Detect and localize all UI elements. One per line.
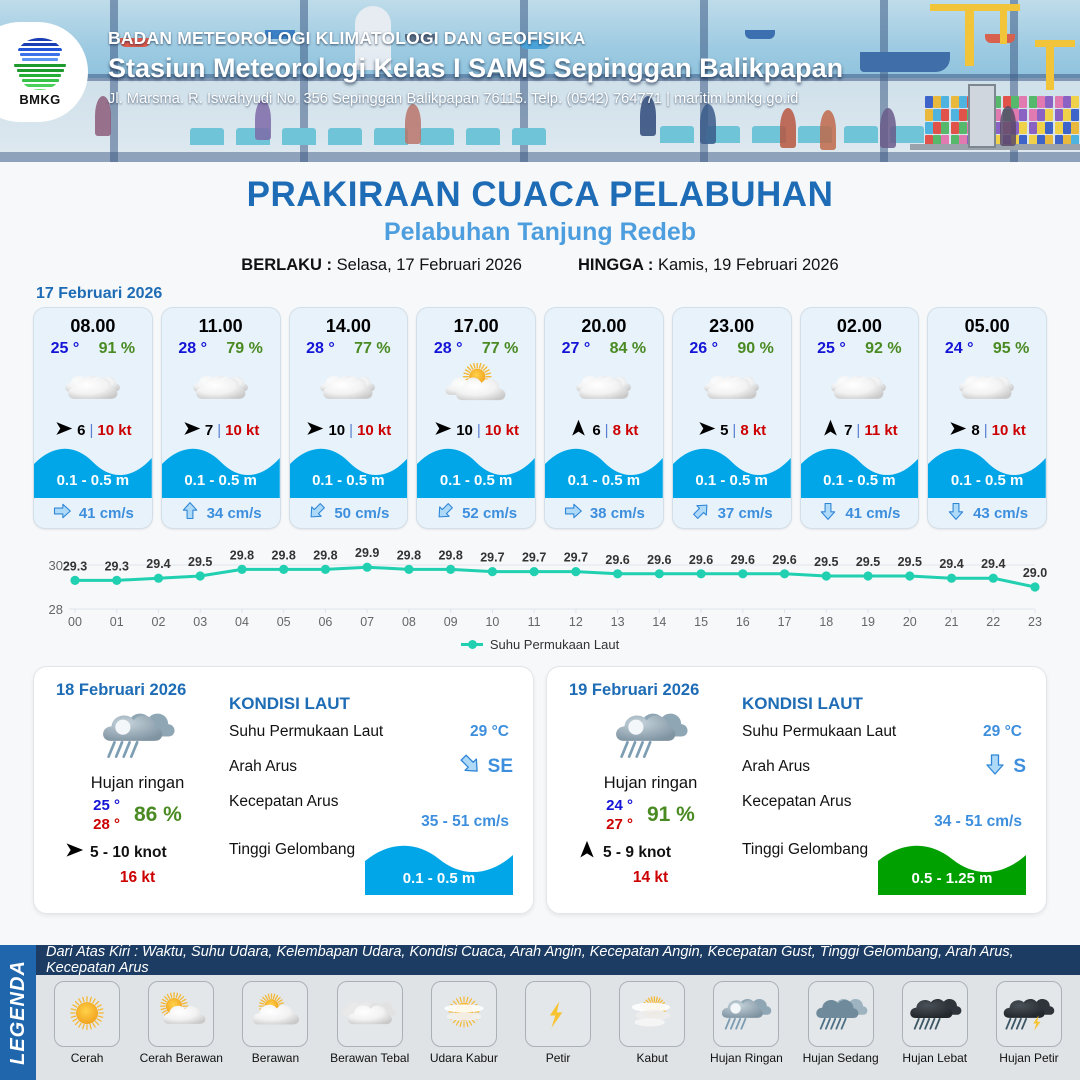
container-box xyxy=(925,122,933,134)
daily-temp-max: 27 ° xyxy=(606,816,633,833)
wind-direction-arrow-icon xyxy=(54,419,73,438)
legend-item-icon-box xyxy=(431,981,497,1047)
sea-conditions-title: KONDISI LAUT xyxy=(229,694,517,714)
card-current-speed: 50 cm/s xyxy=(334,505,389,522)
chart-x-tick: 16 xyxy=(736,615,750,629)
card-wave-block: 0.1 - 0.5 m xyxy=(417,442,535,498)
card-temperature: 24 ° xyxy=(945,340,974,358)
current-direction-arrow-icon xyxy=(180,501,200,521)
waiting-seat xyxy=(466,128,500,145)
card-gust: 11 kt xyxy=(864,422,897,439)
card-wave-height: 0.1 - 0.5 m xyxy=(673,472,791,489)
chart-point-label: 29.4 xyxy=(939,557,963,571)
card-wind: 6|8 kt xyxy=(545,416,663,444)
card-wave-height: 0.1 - 0.5 m xyxy=(928,472,1046,489)
chart-point-label: 29.0 xyxy=(1023,566,1047,580)
legend-item-list: CerahCerah BerawanBerawanBerawan TebalUd… xyxy=(36,975,1080,1080)
chart-data-point xyxy=(905,571,914,580)
container-box xyxy=(951,96,959,108)
daily-sea-conditions: KONDISI LAUTSuhu Permukaan Laut29 °CArah… xyxy=(225,681,517,899)
chart-data-point xyxy=(1030,582,1039,591)
chart-point-label: 29.4 xyxy=(981,557,1005,571)
wind-direction-arrow-icon xyxy=(182,419,201,438)
container-box xyxy=(959,96,967,108)
chart-point-label: 29.6 xyxy=(689,553,713,567)
container-box xyxy=(951,122,959,134)
card-time: 17.00 xyxy=(417,308,535,337)
card-wave-block: 0.1 - 0.5 m xyxy=(801,442,919,498)
card-wind-arrow-slot xyxy=(569,419,588,442)
container-box xyxy=(941,96,949,108)
chart-point-label: 29.4 xyxy=(146,557,170,571)
card-wave-height: 0.1 - 0.5 m xyxy=(417,472,535,489)
container-box xyxy=(959,122,967,134)
card-wind-separator: | xyxy=(477,422,481,439)
chart-x-tick: 10 xyxy=(485,615,499,629)
current-direction-label: Arah Arus xyxy=(742,758,810,775)
legend-item: Hujan Ringan xyxy=(699,981,793,1065)
card-time: 02.00 xyxy=(801,308,919,337)
legend-item: Udara Kabur xyxy=(417,981,511,1065)
chart-data-point xyxy=(154,574,163,583)
card-wave-height: 0.1 - 0.5 m xyxy=(545,472,663,489)
forecast-card[interactable]: 23.0026 °90 %5|8 kt0.1 - 0.5 m37 cm/s xyxy=(672,307,792,529)
chart-x-tick: 19 xyxy=(861,615,875,629)
wind-direction-arrow-icon xyxy=(64,840,84,860)
card-gust: 10 kt xyxy=(225,422,259,439)
chart-data-point xyxy=(237,565,246,574)
legend-item: Hujan Lebat xyxy=(888,981,982,1065)
chart-x-tick: 17 xyxy=(778,615,792,629)
current-direction-arrow-icon xyxy=(946,501,966,521)
card-wind-separator: | xyxy=(984,422,988,439)
card-time: 11.00 xyxy=(162,308,280,337)
card-wind-speed: 8 xyxy=(971,422,979,439)
chart-data-point xyxy=(822,571,831,580)
chart-point-label: 29.5 xyxy=(188,555,212,569)
forecast-card[interactable]: 20.0027 °84 %6|8 kt0.1 - 0.5 m38 cm/s xyxy=(544,307,664,529)
forecast-card[interactable]: 02.0025 °92 %7|11 kt0.1 - 0.5 m41 cm/s xyxy=(800,307,920,529)
chart-legend-label: Suhu Permukaan Laut xyxy=(490,637,619,652)
chart-x-tick: 18 xyxy=(819,615,833,629)
legend-item-icon-box xyxy=(242,981,308,1047)
current-direction-arrow-icon xyxy=(52,501,72,521)
chart-legend: Suhu Permukaan Laut xyxy=(0,637,1080,652)
card-temperature: 28 ° xyxy=(434,340,463,358)
chart-data-point xyxy=(738,569,747,578)
weather-icon-haze xyxy=(435,991,493,1036)
card-time: 05.00 xyxy=(928,308,1046,337)
person-silhouette xyxy=(700,104,716,144)
card-wind-speed: 10 xyxy=(456,422,473,439)
card-time: 20.00 xyxy=(545,308,663,337)
container-box xyxy=(1071,109,1079,121)
card-wave-block: 0.1 - 0.5 m xyxy=(290,442,408,498)
container-box xyxy=(1019,122,1027,134)
legend-note: Dari Atas Kiri : Waktu, Suhu Udara, Kele… xyxy=(46,944,1080,976)
legend-note-bar: Dari Atas Kiri : Waktu, Suhu Udara, Kele… xyxy=(36,945,1080,975)
chart-x-tick: 15 xyxy=(694,615,708,629)
card-current: 37 cm/s xyxy=(673,498,791,528)
container-box xyxy=(933,122,941,134)
card-temperature: 28 ° xyxy=(178,340,207,358)
chart-point-label: 29.8 xyxy=(272,548,296,562)
wave-height-graphic xyxy=(545,442,663,498)
card-gust: 10 kt xyxy=(357,422,391,439)
chart-x-tick: 04 xyxy=(235,615,249,629)
card-gust: 10 kt xyxy=(485,422,519,439)
current-direction-value: S xyxy=(1013,756,1026,778)
waiting-seat xyxy=(844,126,878,143)
chart-data-point xyxy=(696,569,705,578)
daily-wind: 5 - 10 knot xyxy=(64,840,167,865)
crane-boom xyxy=(1035,40,1075,47)
forecast-card[interactable]: 08.0025 °91 %6|10 kt0.1 - 0.5 m41 cm/s xyxy=(33,307,153,529)
card-weather-icon xyxy=(290,358,408,416)
current-direction-value: SE xyxy=(488,756,513,778)
card-wave-block: 0.1 - 0.5 m xyxy=(34,442,152,498)
page-subtitle: Pelabuhan Tanjung Redeb xyxy=(0,218,1080,247)
container-box xyxy=(1011,96,1019,108)
container-box xyxy=(1063,96,1071,108)
daily-gust: 16 kt xyxy=(120,869,155,887)
chart-x-tick: 06 xyxy=(318,615,332,629)
organization-name: BADAN METEOROLOGI KLIMATOLOGI DAN GEOFIS… xyxy=(108,28,843,49)
card-weather-icon xyxy=(34,358,152,416)
crane-leg xyxy=(1000,4,1007,44)
chart-x-tick: 12 xyxy=(569,615,583,629)
person-silhouette xyxy=(405,104,421,144)
weather-icon-heavy-rain xyxy=(906,991,964,1036)
weather-icon-cloudy-sun xyxy=(246,991,304,1036)
card-current: 43 cm/s xyxy=(928,498,1046,528)
container-box xyxy=(1019,96,1027,108)
card-temp-humidity: 28 °77 % xyxy=(417,337,535,358)
legend-item-icon-box xyxy=(996,981,1062,1047)
card-wind-separator: | xyxy=(856,422,860,439)
legend-item-label: Hujan Ringan xyxy=(710,1051,783,1065)
wind-direction-arrow-icon xyxy=(305,419,324,438)
card-time: 23.00 xyxy=(673,308,791,337)
chart-data-point xyxy=(863,571,872,580)
forecast-card[interactable]: 17.0028 °77 %10|10 kt0.1 - 0.5 m52 cm/s xyxy=(416,307,536,529)
wave-height-graphic xyxy=(673,442,791,498)
card-current-arrow-slot xyxy=(563,501,583,525)
container-box xyxy=(933,109,941,121)
sst-row: Suhu Permukaan Laut29 °C xyxy=(229,723,517,749)
weather-icon-light-rain xyxy=(96,702,180,768)
legend-item-icon-box xyxy=(54,981,120,1047)
legend-item-icon-box xyxy=(619,981,685,1047)
chart-data-point xyxy=(70,576,79,585)
card-weather-icon xyxy=(673,358,791,416)
chart-point-label: 29.3 xyxy=(105,559,129,573)
card-wind-speed: 6 xyxy=(592,422,600,439)
legend-item: Hujan Petir xyxy=(982,981,1076,1065)
chart-x-tick: 09 xyxy=(444,615,458,629)
waiting-seat xyxy=(660,126,694,143)
chart-point-label: 29.8 xyxy=(313,548,337,562)
legend-bar: LEGENDA Dari Atas Kiri : Waktu, Suhu Uda… xyxy=(0,945,1080,1080)
current-speed-row: Kecepatan Arus35 - 51 cm/s xyxy=(229,793,517,819)
container-box xyxy=(1029,122,1037,134)
wave-height-graphic xyxy=(162,442,280,498)
daily-summary-panel[interactable]: 18 Februari 2026Hujan ringan25 °28 °86 %… xyxy=(33,666,534,914)
daily-left: 19 Februari 2026Hujan ringan24 °27 °91 %… xyxy=(563,681,738,899)
card-humidity: 90 % xyxy=(737,340,773,358)
legend-item: Hujan Sedang xyxy=(794,981,888,1065)
chart-x-tick: 03 xyxy=(193,615,207,629)
person-silhouette xyxy=(880,108,896,148)
card-wind-speed: 5 xyxy=(720,422,728,439)
container-box xyxy=(1055,96,1063,108)
chart-x-tick: 00 xyxy=(68,615,82,629)
forecast-card[interactable]: 11.0028 °79 %7|10 kt0.1 - 0.5 m34 cm/s xyxy=(161,307,281,529)
weather-icon-thunder-rain xyxy=(1000,991,1058,1036)
container-box xyxy=(951,109,959,121)
wave-height-graphic xyxy=(417,442,535,498)
wind-direction-arrow-icon xyxy=(433,419,452,438)
legend-item: Berawan Tebal xyxy=(323,981,417,1065)
person-silhouette xyxy=(780,108,796,148)
card-temp-humidity: 25 °91 % xyxy=(34,337,152,358)
card-current-arrow-slot xyxy=(818,501,838,525)
chart-y-tick: 30 xyxy=(49,558,63,573)
legend-item-icon-box xyxy=(525,981,591,1047)
card-wind: 7|10 kt xyxy=(162,416,280,444)
header-banner: BMKG BADAN METEOROLOGI KLIMATOLOGI DAN G… xyxy=(0,0,1080,162)
card-weather-icon xyxy=(162,358,280,416)
container-box xyxy=(1019,109,1027,121)
chart-data-point xyxy=(780,569,789,578)
wave-height-graphic xyxy=(928,442,1046,498)
card-wind-arrow-slot xyxy=(182,419,201,442)
chart-x-tick: 22 xyxy=(986,615,1000,629)
daily-gust: 14 kt xyxy=(633,869,668,887)
current-direction-arrow-icon xyxy=(983,752,1007,776)
berlaku-block: BERLAKU : Selasa, 17 Februari 2026 xyxy=(241,256,522,275)
weather-icon-lightning xyxy=(529,991,587,1036)
container-box xyxy=(933,96,941,108)
card-wind: 10|10 kt xyxy=(417,416,535,444)
current-speed-row: Kecepatan Arus34 - 51 cm/s xyxy=(742,793,1030,819)
card-weather-icon xyxy=(928,358,1046,416)
chart-x-tick: 13 xyxy=(611,615,625,629)
chart-point-label: 29.6 xyxy=(731,553,755,567)
daily-wind-range: 5 - 9 knot xyxy=(603,844,671,862)
current-direction-arrow-icon xyxy=(435,501,455,521)
sst-value: 29 °C xyxy=(470,723,509,741)
person-silhouette xyxy=(820,110,836,150)
container-box xyxy=(1063,109,1071,121)
weather-icon-light-rain xyxy=(717,991,775,1036)
card-wind-speed: 7 xyxy=(205,422,213,439)
card-humidity: 79 % xyxy=(226,340,262,358)
card-temp-humidity: 27 °84 % xyxy=(545,337,663,358)
daily-temp-min: 24 ° xyxy=(606,797,633,814)
page-title: PRAKIRAAN CUACA PELABUHAN xyxy=(0,175,1080,215)
card-current: 34 cm/s xyxy=(162,498,280,528)
card-current-arrow-slot xyxy=(435,501,455,525)
card-current-speed: 37 cm/s xyxy=(718,505,773,522)
wave-height-graphic xyxy=(290,442,408,498)
card-weather-icon xyxy=(801,358,919,416)
waiting-seat xyxy=(328,128,362,145)
chart-point-label: 29.8 xyxy=(397,548,421,562)
chart-point-label: 29.7 xyxy=(522,551,546,565)
container-box xyxy=(1071,96,1079,108)
card-wave-height: 0.1 - 0.5 m xyxy=(290,472,408,489)
chart-data-point xyxy=(947,574,956,583)
weather-icon-light-rain xyxy=(609,702,693,768)
daily-wave-graphic: 0.5 - 1.25 m xyxy=(878,839,1026,895)
current-speed-value: 35 - 51 cm/s xyxy=(421,813,509,831)
container-box xyxy=(1029,96,1037,108)
card-wind-arrow-slot xyxy=(305,419,324,442)
weather-icon-cloudy xyxy=(190,363,252,411)
legend-item: Kabut xyxy=(605,981,699,1065)
card-wave-height: 0.1 - 0.5 m xyxy=(801,472,919,489)
chart-x-tick: 01 xyxy=(110,615,124,629)
sst-chart: 283029.30029.30129.40229.50329.80429.805… xyxy=(33,539,1047,631)
card-humidity: 77 % xyxy=(354,340,390,358)
crane-mast xyxy=(965,4,974,66)
waiting-seat xyxy=(420,128,454,145)
weather-icon-partly xyxy=(445,363,507,411)
daily-condition: Hujan ringan xyxy=(91,774,185,793)
legend-item: Petir xyxy=(511,981,605,1065)
container-box xyxy=(1055,122,1063,134)
legend-item-label: Hujan Petir xyxy=(999,1051,1058,1065)
sst-row: Suhu Permukaan Laut29 °C xyxy=(742,723,1030,749)
container-box xyxy=(1063,122,1071,134)
chart-data-point xyxy=(989,574,998,583)
card-temperature: 27 ° xyxy=(562,340,591,358)
weather-icon-cloudy xyxy=(828,363,890,411)
chart-x-tick: 05 xyxy=(277,615,291,629)
current-direction-arrow-icon xyxy=(563,501,583,521)
weather-icon-cloudy xyxy=(573,363,635,411)
card-wave-block: 0.1 - 0.5 m xyxy=(545,442,663,498)
wave-height-graphic xyxy=(801,442,919,498)
card-current-speed: 43 cm/s xyxy=(973,505,1028,522)
daily-temps: 24 °27 °91 % xyxy=(606,797,695,833)
card-time: 08.00 xyxy=(34,308,152,337)
card-temp-humidity: 28 °77 % xyxy=(290,337,408,358)
hingga-label: HINGGA : xyxy=(578,256,653,274)
daily-summary-list: 18 Februari 2026Hujan ringan25 °28 °86 %… xyxy=(0,652,1080,914)
banner-bottom-band xyxy=(0,152,1080,162)
info-screen xyxy=(968,84,996,148)
forecast-card[interactable]: 05.0024 °95 %8|10 kt0.1 - 0.5 m43 cm/s xyxy=(927,307,1047,529)
wind-direction-arrow-icon xyxy=(697,419,716,438)
waiting-seat xyxy=(512,128,546,145)
legend-side-label: LEGENDA xyxy=(0,945,36,1080)
chart-data-point xyxy=(446,565,455,574)
chart-data-point xyxy=(321,565,330,574)
legend-item-label: Berawan Tebal xyxy=(330,1051,409,1065)
wave-height-graphic xyxy=(34,442,152,498)
chart-point-label: 29.8 xyxy=(438,548,462,562)
current-direction-row: Arah ArusSE xyxy=(229,758,517,784)
chart-data-point xyxy=(363,563,372,572)
card-temperature: 25 ° xyxy=(51,340,80,358)
card-gust: 10 kt xyxy=(97,422,131,439)
card-current-speed: 41 cm/s xyxy=(845,505,900,522)
card-wind: 5|8 kt xyxy=(673,416,791,444)
legend-item-label: Cerah Berawan xyxy=(140,1051,223,1065)
daily-summary-panel[interactable]: 19 Februari 2026Hujan ringan24 °27 °91 %… xyxy=(546,666,1047,914)
card-wind-arrow-slot xyxy=(948,419,967,442)
legend-item-label: Berawan xyxy=(252,1051,299,1065)
wave-height-label: Tinggi Gelombang xyxy=(742,841,868,858)
card-temp-humidity: 25 °92 % xyxy=(801,337,919,358)
daily-temp-min: 25 ° xyxy=(93,797,120,814)
legend-item-icon-box xyxy=(713,981,779,1047)
daily-temps: 25 °28 °86 % xyxy=(93,797,182,833)
berlaku-value: Selasa, 17 Februari 2026 xyxy=(337,256,522,274)
chart-point-label: 29.7 xyxy=(564,551,588,565)
sst-chart-svg: 283029.30029.30129.40229.50329.80429.805… xyxy=(33,539,1047,631)
card-wind-separator: | xyxy=(732,422,736,439)
card-wave-height: 0.1 - 0.5 m xyxy=(34,472,152,489)
sea-conditions-title: KONDISI LAUT xyxy=(742,694,1030,714)
chart-x-tick: 20 xyxy=(903,615,917,629)
chart-point-label: 29.6 xyxy=(647,553,671,567)
current-direction-value-group: SE xyxy=(458,752,513,781)
chart-legend-marker-icon xyxy=(461,643,483,646)
daily-sea-conditions: KONDISI LAUTSuhu Permukaan Laut29 °CArah… xyxy=(738,681,1030,899)
sst-value: 29 °C xyxy=(983,723,1022,741)
chart-y-tick: 28 xyxy=(49,602,63,617)
legend-item-label: Hujan Lebat xyxy=(902,1051,967,1065)
legend-item-icon-box xyxy=(148,981,214,1047)
card-temperature: 25 ° xyxy=(817,340,846,358)
current-direction-row: Arah ArusS xyxy=(742,758,1030,784)
card-current-arrow-slot xyxy=(180,501,200,525)
container-box xyxy=(1071,122,1079,134)
daily-wind: 5 - 9 knot xyxy=(577,840,671,865)
daily-wave-graphic: 0.1 - 0.5 m xyxy=(365,839,513,895)
container-box xyxy=(941,122,949,134)
container-box xyxy=(1029,109,1037,121)
card-wind: 6|10 kt xyxy=(34,416,152,444)
sst-label: Suhu Permukaan Laut xyxy=(229,723,383,740)
station-address: Jl. Marsma. R. Iswahyudi No. 356 Sepingg… xyxy=(108,91,843,107)
hingga-block: HINGGA : Kamis, 19 Februari 2026 xyxy=(578,256,839,275)
legend-item: Berawan xyxy=(228,981,322,1065)
card-humidity: 95 % xyxy=(993,340,1029,358)
card-temp-humidity: 24 °95 % xyxy=(928,337,1046,358)
card-humidity: 77 % xyxy=(482,340,518,358)
validity-row: BERLAKU : Selasa, 17 Februari 2026 HINGG… xyxy=(0,256,1080,275)
card-current-speed: 38 cm/s xyxy=(590,505,645,522)
container-box xyxy=(1045,122,1053,134)
card-current-arrow-slot xyxy=(691,501,711,525)
container-box xyxy=(941,109,949,121)
card-current: 50 cm/s xyxy=(290,498,408,528)
forecast-card[interactable]: 14.0028 °77 %10|10 kt0.1 - 0.5 m50 cm/s xyxy=(289,307,409,529)
wind-direction-arrow-icon xyxy=(569,419,588,438)
weather-icon-moderate-rain xyxy=(812,991,870,1036)
card-wind-separator: | xyxy=(217,422,221,439)
current-speed-label: Kecepatan Arus xyxy=(742,793,851,810)
card-wave-block: 0.1 - 0.5 m xyxy=(928,442,1046,498)
daily-weather-icon xyxy=(96,698,180,772)
weather-icon-sunny xyxy=(58,991,116,1036)
card-current-arrow-slot xyxy=(946,501,966,525)
card-gust: 10 kt xyxy=(992,422,1026,439)
